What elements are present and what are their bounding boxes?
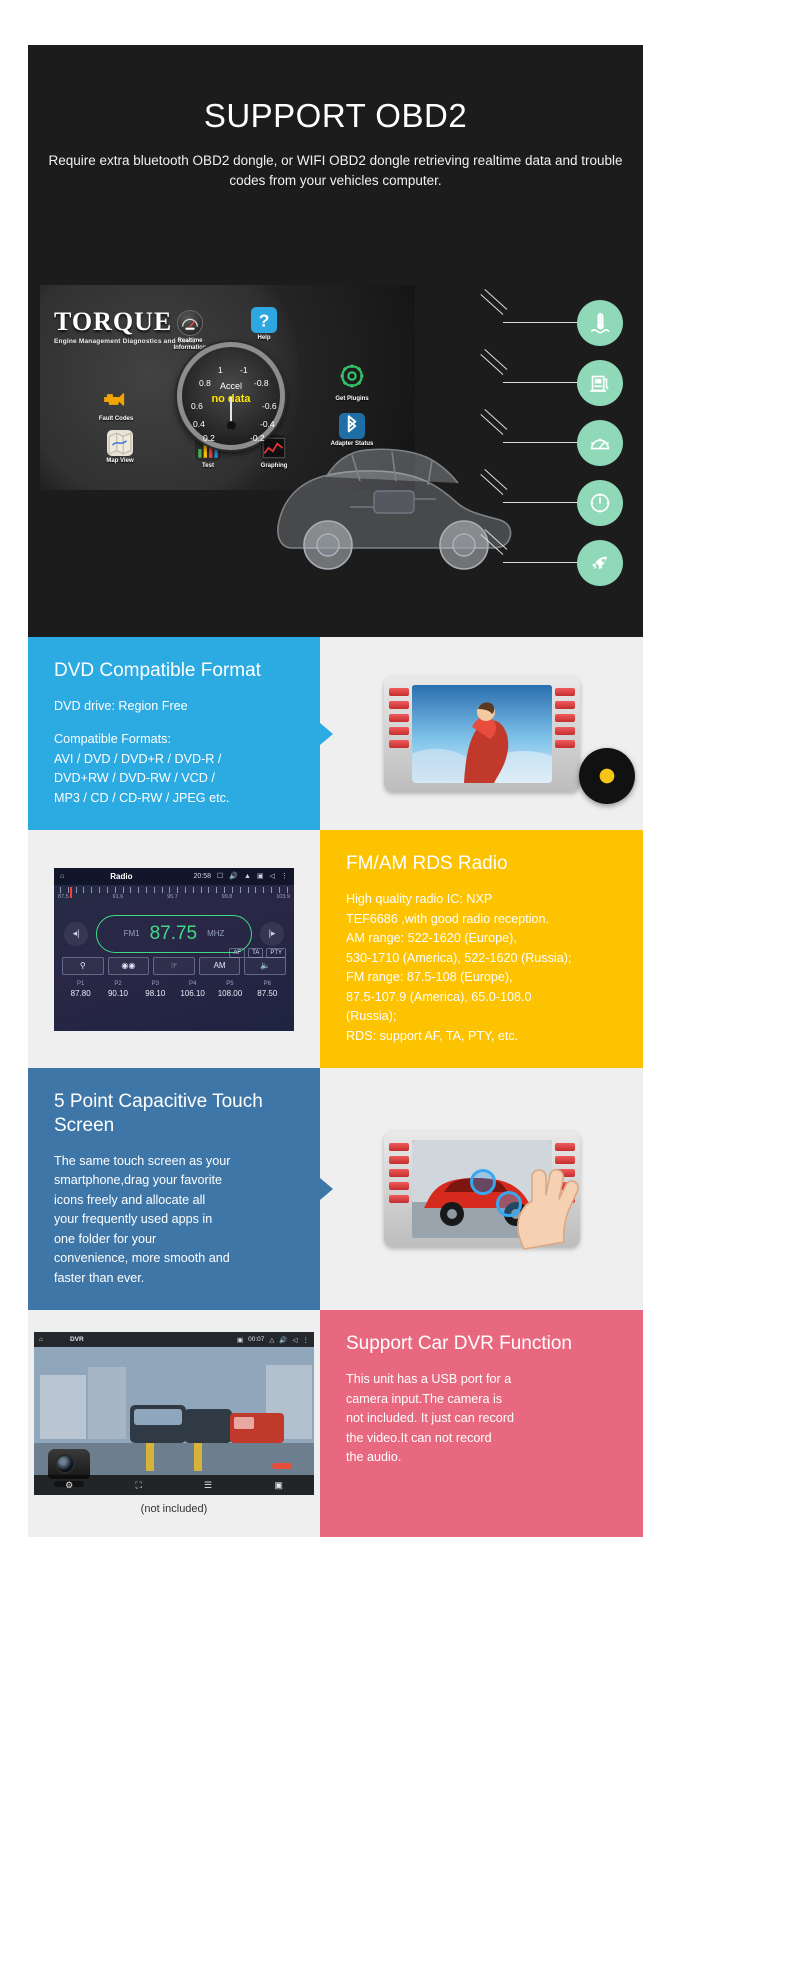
dvr-image-pane: ⌂ DVR ▣ 00:07 △ 🔊 ◁ ⋮ (28, 1310, 320, 1537)
radio-status-bar: ⌂ Radio 20:58 ☐ 🔊 ▲ ▣ ◁ ⋮ (54, 868, 294, 885)
section-heading: Support Car DVR Function (346, 1332, 617, 1356)
check-engine-icon (88, 390, 144, 414)
eject-icon[interactable]: ▲ (244, 873, 251, 880)
touch-text-pane: 5 Point Capacitive Touch Screen The same… (28, 1068, 320, 1310)
touchscreen-section: 5 Point Capacitive Touch Screen The same… (28, 1068, 643, 1310)
preset-p5[interactable]: P5 108.00 (211, 981, 248, 998)
torque-icon-label: Map View (92, 458, 148, 465)
dvd-image-pane (320, 637, 643, 830)
next-station-button[interactable]: |▸ (260, 922, 284, 946)
gear-icon (324, 363, 380, 394)
section-line: not included. It just can record (346, 1409, 617, 1429)
section-line: smartphone,drag your favorite (54, 1171, 294, 1191)
leader-line (503, 562, 577, 563)
fuel-pump-icon (577, 360, 623, 406)
preset-key: P1 (62, 981, 99, 987)
gauge-hub (227, 421, 236, 430)
torque-icon-help[interactable]: ? Help (236, 307, 292, 342)
wifi-icon[interactable]: △ (269, 1336, 274, 1344)
radio-section: ⌂ Radio 20:58 ☐ 🔊 ▲ ▣ ◁ ⋮ (28, 830, 643, 1068)
section-line: 530-1710 (America), 522-1620 (Russia); (346, 949, 617, 969)
section-line: the audio. (346, 1448, 617, 1468)
home-icon[interactable]: ⌂ (60, 873, 64, 880)
settings-icon[interactable]: ⚙ (65, 1480, 73, 1491)
infographic-page: SUPPORT OBD2 Require extra bluetooth OBD… (0, 0, 800, 1974)
list-icon[interactable]: ☰ (204, 1480, 212, 1491)
section-heading: DVD Compatible Format (54, 659, 294, 683)
dvr-section: ⌂ DVR ▣ 00:07 △ 🔊 ◁ ⋮ (28, 1310, 643, 1537)
section-line: Compatible Formats: (54, 730, 294, 750)
torque-icon-label: Help (236, 335, 292, 342)
preset-p2[interactable]: P2 90.10 (99, 981, 136, 998)
hero-subtitle: Require extra bluetooth OBD2 dongle, or … (28, 135, 643, 192)
coolant-temperature-icon (577, 300, 623, 346)
leader-line (503, 502, 577, 503)
dvd-format-section: DVD Compatible Format DVD drive: Region … (28, 637, 643, 830)
search-icon: ⚲ (80, 961, 86, 970)
radio-text-pane: FM/AM RDS Radio High quality radio IC: N… (320, 830, 643, 1068)
radio-image-pane: ⌂ Radio 20:58 ☐ 🔊 ▲ ▣ ◁ ⋮ (28, 830, 320, 1068)
section-line: High quality radio IC: NXP (346, 890, 617, 910)
rds-button[interactable]: ☞ (153, 957, 195, 975)
rds-antenna-icon: ☞ (170, 961, 177, 970)
screen-off-icon[interactable]: ☐ (217, 872, 223, 880)
section-line: one folder for your (54, 1230, 294, 1250)
head-unit-illustration (384, 1131, 580, 1247)
touch-image-pane (320, 1068, 643, 1310)
dvr-status-bar: ⌂ DVR ▣ 00:07 △ 🔊 ◁ ⋮ (34, 1332, 314, 1347)
scale-label: 95.7 (167, 894, 178, 900)
status-icons: 20:58 ☐ 🔊 ▲ ▣ ◁ ⋮ (194, 872, 288, 880)
volume-icon[interactable]: 🔊 (229, 872, 238, 880)
section-line: camera input.The camera is (346, 1390, 617, 1410)
section-line: FM range: 87.5-108 (Europe), (346, 968, 617, 988)
bullet-coolant-temperature (408, 300, 623, 360)
radio-button-row: ⚲ ◉◉ ☞ AM 🔈 (54, 957, 294, 975)
rds-tag-af[interactable]: AF (229, 948, 245, 958)
menu-icon[interactable]: ⋮ (281, 872, 288, 880)
preset-p3[interactable]: P3 98.10 (137, 981, 174, 998)
camera-icon[interactable]: ▣ (237, 1336, 243, 1344)
gauge-tick-label: 1 (218, 365, 223, 375)
scale-label: 99.8 (222, 894, 233, 900)
section-line: DVD drive: Region Free (54, 697, 294, 717)
rds-tag-pty[interactable]: PTY (266, 948, 286, 958)
loudness-button[interactable]: 🔈 (244, 957, 286, 975)
rds-tags: AF TA PTY (229, 948, 286, 958)
camera-lens-icon (55, 1454, 75, 1474)
section-line: AM range: 522-1620 (Europe), (346, 929, 617, 949)
bullet-speed (408, 420, 623, 480)
preset-key: P5 (211, 981, 248, 987)
back-icon[interactable]: ◁ (293, 1336, 298, 1344)
preset-key: P2 (99, 981, 136, 987)
frequency-value: 87.75 (150, 923, 198, 945)
volume-icon[interactable]: 🔊 (279, 1336, 287, 1344)
scale-labels: 87.5 91.6 95.7 99.8 103.9 (54, 893, 294, 900)
speedometer-icon (577, 420, 623, 466)
disc-illustration (579, 748, 635, 804)
dvr-screen-title: DVR (70, 1336, 84, 1343)
bullet-fuel-level (408, 360, 623, 420)
section-line: the video.It can not record (346, 1429, 617, 1449)
dvr-toolbar: ⚙ ⛶ ☰ ▣ (34, 1475, 314, 1495)
infographic-sheet: SUPPORT OBD2 Require extra bluetooth OBD… (28, 45, 643, 1537)
scale-label: 87.5 (58, 894, 69, 900)
folder-icon[interactable]: ⛶ (135, 1480, 141, 1491)
section-heading: 5 Point Capacitive Touch Screen (54, 1090, 294, 1138)
svg-text:?: ? (259, 311, 270, 331)
dvr-caption: (not included) (141, 1503, 208, 1515)
section-line: faster than ever. (54, 1269, 294, 1289)
section-line: (Russia); (346, 1007, 617, 1027)
torque-icon-label: Test (180, 463, 236, 470)
preset-value: 108.00 (211, 989, 248, 998)
capture-icon[interactable]: ▣ (274, 1480, 283, 1491)
map-icon (107, 430, 133, 456)
head-unit-screen (412, 685, 552, 783)
preset-value: 106.10 (174, 989, 211, 998)
question-mark-icon: ? (251, 307, 277, 333)
obd2-hero-section: SUPPORT OBD2 Require extra bluetooth OBD… (28, 45, 643, 637)
leader-line (503, 322, 577, 323)
clock-label: 20:58 (194, 873, 212, 880)
scale-label: 91.6 (113, 894, 124, 900)
apps-icon[interactable]: ▣ (257, 872, 264, 880)
torque-icon-label: Fault Codes (88, 416, 144, 423)
stereo-icon: ◉◉ (121, 961, 135, 970)
page-title: SUPPORT OBD2 (28, 45, 643, 135)
preset-value: 87.50 (249, 989, 286, 998)
leader-line (503, 442, 577, 443)
hand-illustration (490, 1157, 586, 1253)
preset-key: P6 (249, 981, 286, 987)
preset-p1[interactable]: P1 87.80 (62, 981, 99, 998)
gauge-center-label: Accel (182, 381, 280, 391)
section-heading: FM/AM RDS Radio (346, 852, 617, 876)
preset-value: 87.80 (62, 989, 99, 998)
left-button-column (389, 1143, 409, 1208)
stereo-button[interactable]: ◉◉ (108, 957, 150, 975)
section-line: 87.5-107.9 (America), 65.0-108.0 (346, 988, 617, 1008)
back-icon[interactable]: ◁ (270, 872, 275, 880)
torque-icon-fault-codes[interactable]: Fault Codes (88, 390, 144, 423)
radio-frequency-scale[interactable]: 87.5 91.6 95.7 99.8 103.9 (54, 887, 294, 911)
torque-icon-map-view[interactable]: Map View (92, 430, 148, 465)
am-band-button[interactable]: AM (199, 957, 241, 975)
gauge-tick-label: 0.4 (193, 419, 205, 429)
radio-ui-screenshot: ⌂ Radio 20:58 ☐ 🔊 ▲ ▣ ◁ ⋮ (54, 868, 294, 1031)
gauge-icon (177, 310, 203, 336)
rds-tag-ta[interactable]: TA (248, 948, 263, 958)
tachometer-icon (577, 480, 623, 526)
section-line: TEF6686 ,with good radio reception. (346, 910, 617, 930)
pointer-arrow-icon (320, 723, 333, 745)
section-line: DVD+RW / DVD-RW / VCD / (54, 769, 294, 789)
frequency-unit: MHZ (207, 929, 224, 938)
obd2-feature-bullets (408, 300, 623, 600)
leader-line (503, 382, 577, 383)
dvr-text-pane: Support Car DVR Function This unit has a… (320, 1310, 643, 1537)
section-line: your frequently used apps in (54, 1210, 294, 1230)
radio-presets: P1 87.80 P2 90.10 P3 98.10 P4 106.10 (54, 975, 294, 998)
previous-station-button[interactable]: ◂| (64, 922, 88, 946)
tuner-marker (70, 887, 72, 898)
gauge-tick-label: -1 (240, 365, 248, 375)
preset-key: P4 (174, 981, 211, 987)
bullet-acceleration (408, 540, 623, 600)
bullet-rpm (408, 480, 623, 540)
left-button-column (389, 688, 409, 753)
section-line: This unit has a USB port for a (346, 1370, 617, 1390)
pointer-arrow-icon (320, 1178, 333, 1200)
head-unit-illustration (384, 676, 580, 792)
search-button[interactable]: ⚲ (62, 957, 104, 975)
band-label: FM1 (124, 929, 140, 938)
radio-screen-title: Radio (110, 872, 132, 881)
menu-icon[interactable]: ⋮ (303, 1336, 310, 1344)
torque-icon-realtime-information[interactable]: Realtime Information (162, 310, 218, 351)
home-icon[interactable]: ⌂ (39, 1336, 43, 1343)
preset-key: P3 (137, 981, 174, 987)
preset-value: 90.10 (99, 989, 136, 998)
preset-value: 98.10 (137, 989, 174, 998)
clock-label: 00:07 (248, 1336, 264, 1343)
dvr-ui-screenshot: ⌂ DVR ▣ 00:07 △ 🔊 ◁ ⋮ (34, 1332, 314, 1495)
scale-label: 103.9 (276, 894, 290, 900)
section-line: icons freely and allocate all (54, 1191, 294, 1211)
preset-p6[interactable]: P6 87.50 (249, 981, 286, 998)
section-line: MP3 / CD / CD-RW / JPEG etc. (54, 789, 294, 809)
section-line: AVI / DVD / DVD+R / DVD-R / (54, 750, 294, 770)
section-line: The same touch screen as your (54, 1152, 294, 1172)
right-button-column (555, 688, 575, 753)
dvd-text-pane: DVD Compatible Format DVD drive: Region … (28, 637, 320, 830)
gauge-tick-label: 0.2 (203, 433, 215, 443)
loudspeaker-icon: 🔈 (260, 961, 270, 970)
status-icons: ▣ 00:07 △ 🔊 ◁ ⋮ (237, 1336, 309, 1344)
rocket-icon (577, 540, 623, 586)
preset-p4[interactable]: P4 106.10 (174, 981, 211, 998)
section-line: RDS: support AF, TA, PTY, etc. (346, 1027, 617, 1047)
section-line: convenience, more smooth and (54, 1249, 294, 1269)
